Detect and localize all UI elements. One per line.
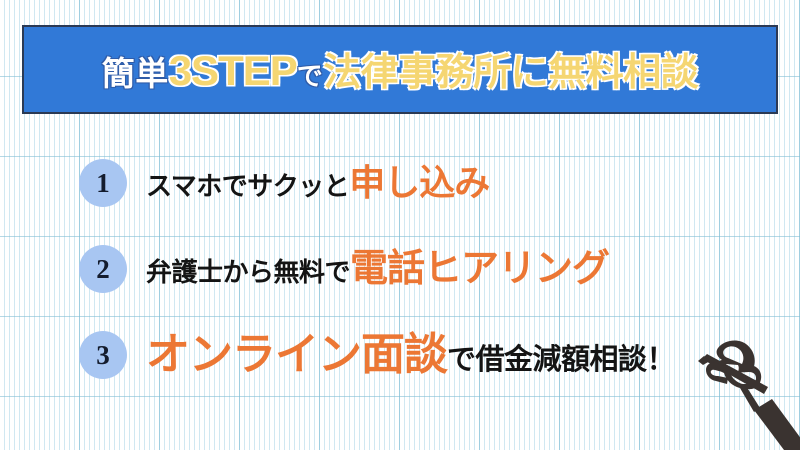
step-1-text-plain: スマホでサクッと: [146, 173, 349, 199]
step-item-1: 1 スマホでサクッと申し込み: [0, 140, 800, 226]
header-segment-simple: 簡単: [102, 55, 169, 92]
step-1-text-highlight: 申し込み: [349, 165, 489, 201]
header-banner: 簡単3STEPで法律事務所に無料相談: [22, 25, 778, 114]
step-text-1: スマホでサクッと申し込み: [146, 165, 489, 201]
step-text-3: オンライン面談で借金減額相談！: [146, 333, 675, 377]
step-number-badge-3: 3: [79, 331, 127, 379]
step-3-text-plain: で借金減額相談！: [447, 346, 675, 375]
step-number-badge-2: 2: [79, 245, 127, 293]
step-item-3: 3 オンライン面談で借金減額相談！: [0, 312, 800, 398]
step-2-text-plain: 弁護士から無料で: [146, 259, 350, 285]
header-segment-de: で: [297, 61, 324, 91]
hand-writing-pen-icon: [698, 326, 800, 450]
header-segment-free-consultation: 法律事務所に無料相談: [323, 52, 698, 94]
step-3-text-highlight: オンライン面談: [146, 333, 447, 377]
slide-canvas: 簡単3STEPで法律事務所に無料相談 1 スマホでサクッと申し込み 2 弁護士か…: [0, 0, 800, 450]
header-segment-3step: 3STEP: [169, 47, 297, 94]
steps-list: 1 スマホでサクッと申し込み 2 弁護士から無料で電話ヒアリング 3 オンライン…: [0, 140, 800, 398]
step-text-2: 弁護士から無料で電話ヒアリング: [146, 250, 609, 288]
page-title: 簡単3STEPで法律事務所に無料相談: [102, 50, 699, 92]
step-number-badge-1: 1: [79, 159, 127, 207]
step-2-text-highlight: 電話ヒアリング: [350, 250, 609, 288]
step-item-2: 2 弁護士から無料で電話ヒアリング: [0, 226, 800, 312]
